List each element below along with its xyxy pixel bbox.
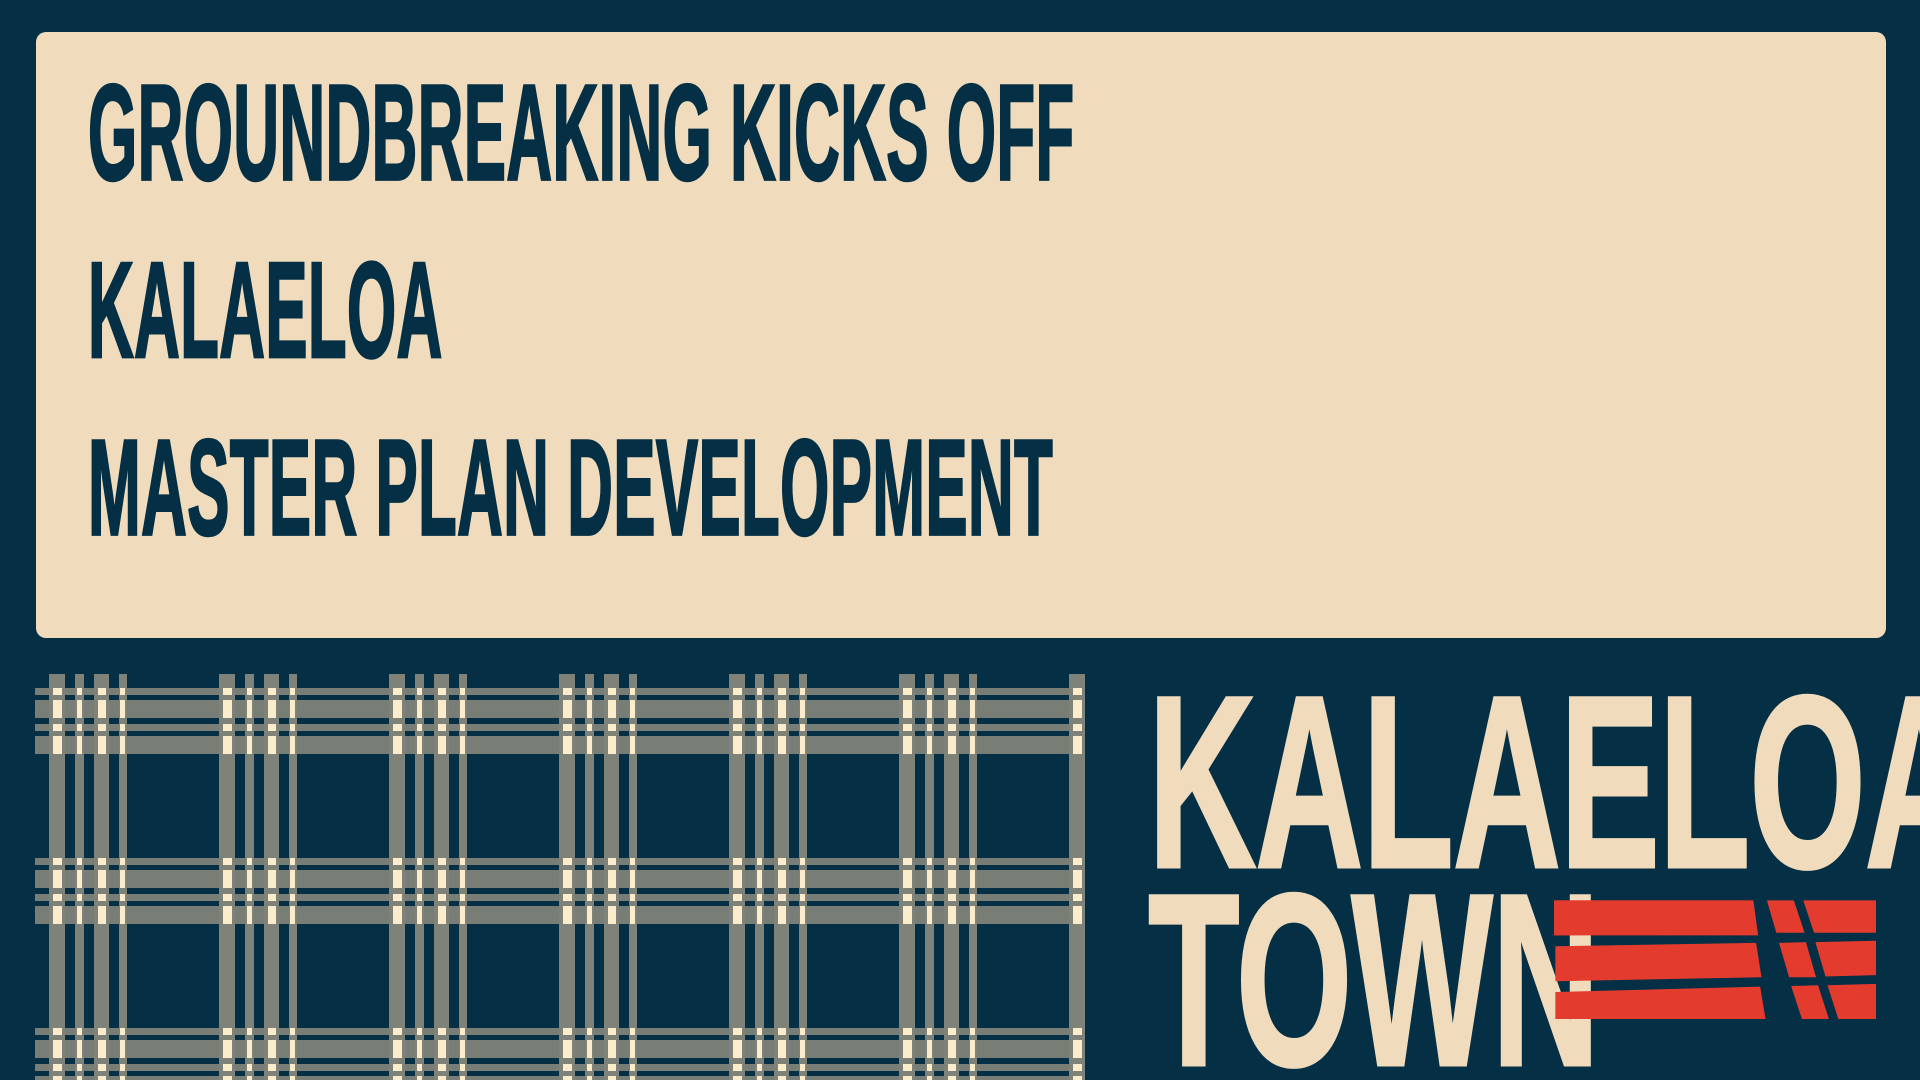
brand-logo-lockup: KALAELOA TOWN (1148, 660, 1884, 1080)
logo-second-row: TOWN (1148, 858, 1884, 1054)
logo-wordmark-town: TOWN (1148, 858, 1599, 1080)
logo-grid-mark (1554, 868, 1876, 1050)
tartan-plaid-panel (35, 674, 1085, 1080)
poster-canvas: Groundbreaking Kicks Off Kalaeloa Master… (0, 0, 1920, 1080)
kalaeloa-town-grid-mark-icon (1554, 868, 1876, 1050)
headline-card: Groundbreaking Kicks Off Kalaeloa Master… (36, 32, 1886, 638)
page-title: Groundbreaking Kicks Off Kalaeloa Master… (88, 46, 1250, 578)
tartan-plaid-pattern-icon (35, 674, 1085, 1080)
